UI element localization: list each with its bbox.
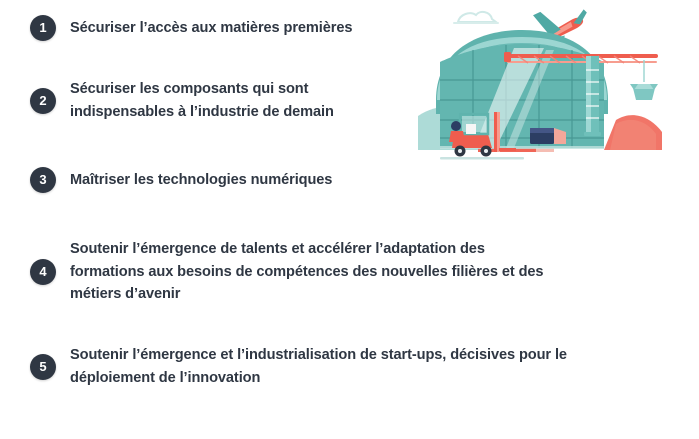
list-item-badge-3: 3 <box>30 167 56 193</box>
list-item-badge-4: 4 <box>30 259 56 285</box>
industrial-hangar-illustration <box>418 0 699 182</box>
list-item-badge-1: 1 <box>30 15 56 41</box>
list-item-label-4: Soutenir l’émergence de talents et accél… <box>70 238 543 306</box>
page-root: 1 Sécuriser l’accès aux matières premièr… <box>0 0 699 439</box>
list-item: 1 Sécuriser l’accès aux matières premièr… <box>30 15 352 41</box>
list-item-label-1: Sécuriser l’accès aux matières premières <box>70 17 352 40</box>
crate-icon <box>530 128 566 144</box>
crane-load-icon <box>630 60 658 100</box>
list-item-label-3: Maîtriser les technologies numériques <box>70 169 332 192</box>
list-item: 3 Maîtriser les technologies numériques <box>30 167 332 193</box>
ground-line <box>440 157 524 160</box>
cloud-icon <box>454 12 498 23</box>
list-item-label-2: Sécuriser les composants qui sont indisp… <box>70 78 334 123</box>
list-item: 5 Soutenir l’émergence et l’industrialis… <box>30 344 567 389</box>
list-item: 4 Soutenir l’émergence de talents et acc… <box>30 238 543 306</box>
list-item-label-5: Soutenir l’émergence et l’industrialisat… <box>70 344 567 389</box>
list-item-badge-2: 2 <box>30 88 56 114</box>
list-item: 2 Sécuriser les composants qui sont indi… <box>30 78 334 123</box>
list-item-badge-5: 5 <box>30 354 56 380</box>
